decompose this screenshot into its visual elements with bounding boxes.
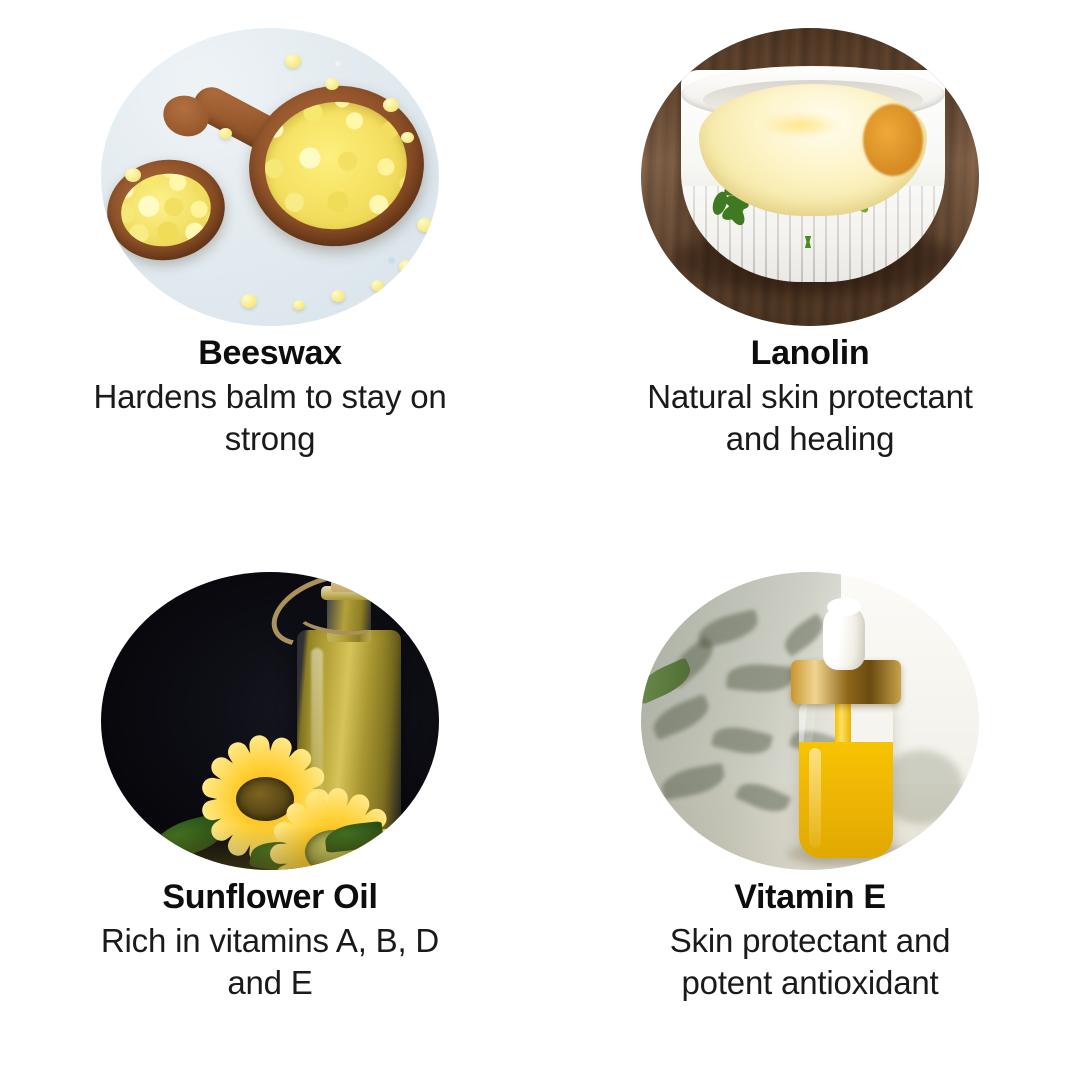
dropper-bulb-top bbox=[827, 598, 861, 616]
beeswax-image bbox=[101, 28, 439, 326]
lanolin-image bbox=[641, 28, 979, 326]
melted-lanolin-pool bbox=[863, 104, 923, 176]
lanolin-scene bbox=[641, 28, 979, 326]
ingredient-card-lanolin: Lanolin Natural skin protectant and heal… bbox=[540, 0, 1080, 540]
ingredient-card-sunflower-oil: Sunflower Oil Rich in vitamins A, B, D a… bbox=[0, 540, 540, 1080]
ingredient-description: Rich in vitamins A, B, D and E bbox=[90, 920, 450, 1003]
ingredient-title: Beeswax bbox=[198, 334, 341, 373]
ingredient-title: Sunflower Oil bbox=[162, 878, 377, 917]
sunflower-oil-image bbox=[101, 572, 439, 870]
scattered-pellets bbox=[101, 28, 439, 326]
leaf-mark-icon bbox=[793, 236, 823, 248]
ingredient-description: Skin protectant and potent antioxidant bbox=[630, 920, 990, 1003]
ingredient-grid: Beeswax Hardens balm to stay on strong bbox=[0, 0, 1080, 1080]
sunflower-oil-scene bbox=[101, 572, 439, 870]
vitamin-e-image bbox=[641, 572, 979, 870]
lanolin-gloss-highlight bbox=[759, 112, 843, 138]
ingredient-title: Lanolin bbox=[751, 334, 870, 373]
ingredient-card-beeswax: Beeswax Hardens balm to stay on strong bbox=[0, 0, 540, 540]
vitamin-e-scene bbox=[641, 572, 979, 870]
ingredient-title: Vitamin E bbox=[734, 878, 886, 917]
beeswax-scene bbox=[101, 28, 439, 326]
ingredient-description: Natural skin protectant and healing bbox=[630, 376, 990, 459]
amber-oil bbox=[799, 742, 893, 858]
ingredient-card-vitamin-e: Vitamin E Skin protectant and potent ant… bbox=[540, 540, 1080, 1080]
dropper-bottle bbox=[799, 700, 893, 858]
ingredient-description: Hardens balm to stay on strong bbox=[90, 376, 450, 459]
table-surface bbox=[101, 826, 439, 870]
